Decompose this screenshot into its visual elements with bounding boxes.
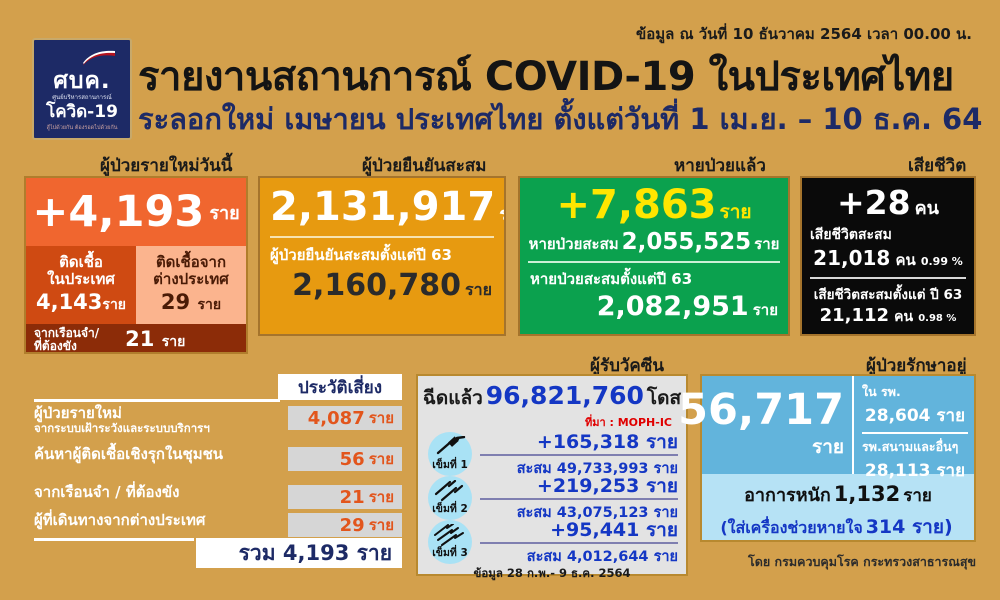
logo-acronym-sub: ศูนย์บริหารสถานการณ์ xyxy=(34,95,130,101)
syringe-glyph xyxy=(433,436,467,458)
imported-label-line2: ต่างประเทศ xyxy=(153,270,229,288)
risk-row: ผู้ป่วยรายใหม่ จากระบบเฝ้าระวังและระบบบร… xyxy=(34,406,402,436)
risk-label-sub: จากระบบเฝ้าระวังและระบบบริการฯ xyxy=(34,422,210,434)
imported-cases-unit: ราย xyxy=(197,297,221,313)
deaths-cum-label: เสียชีวิตสะสม xyxy=(802,222,974,246)
logo-acronym: ศบค. xyxy=(34,70,130,93)
domestic-label-line2: ในประเทศ xyxy=(47,270,115,288)
recovered-cumulative-row: หายป่วยสะสม2,055,525ราย xyxy=(520,227,788,256)
vaccine-dose-numbers: +165,318 ราย สะสม 49,733,993 ราย xyxy=(480,431,678,480)
risk-row: ค้นหาผู้ติดเชื้อเชิงรุกในชุมชน 56 ราย xyxy=(34,447,402,477)
deaths-headline: +28คน xyxy=(802,178,974,222)
cumulative-headline: 2,131,917ราย xyxy=(260,178,504,230)
risk-value-pill: 4,087 ราย xyxy=(288,406,402,430)
section-heading-deaths: เสียชีวิต xyxy=(908,152,966,179)
deaths-value: +28 xyxy=(837,183,911,222)
vaccine-head-label: ฉีดแล้ว xyxy=(423,387,483,409)
field-hospital-label: รพ.สนามและอื่นๆ xyxy=(862,437,968,457)
risk-divider-top xyxy=(34,399,280,402)
recovered-unit: ราย xyxy=(720,201,752,223)
vaccine-dose-row: เข็มที่ 2 +219,253 ราย สะสม 43,075,123 ร… xyxy=(418,475,686,519)
cumulative-since63-unit: ราย xyxy=(465,280,492,299)
recovered-since63-row: 2,082,951ราย xyxy=(520,291,788,322)
dose-new-value: +219,253 ราย xyxy=(480,475,678,498)
new-cases-breakdown: ติดเชื้อ ในประเทศ 4,143ราย ติดเชื้อจาก ต… xyxy=(26,246,246,324)
risk-value: 56 xyxy=(340,449,365,470)
vaccine-dose-numbers: +95,441 ราย สะสม 4,012,644 ราย xyxy=(480,519,678,568)
logo-covid-sub: สู้ไปด้วยกัน ต้องรอดไปด้วยกัน xyxy=(34,126,130,132)
vaccination-card: ฉีดแล้ว96,821,760โดส ที่มา : MOPH-IC เข็… xyxy=(416,374,688,576)
severe-value: 1,132 xyxy=(834,482,900,506)
hospital-value: 28,604 ราย xyxy=(862,402,968,429)
risk-label-main: ค้นหาผู้ติดเชื้อเชิงรุกในชุมชน xyxy=(34,445,223,463)
domestic-cases-label: ติดเชื้อ ในประเทศ xyxy=(47,254,115,288)
recovered-cum-value: 2,055,525 xyxy=(622,229,752,255)
section-heading-cumulative: ผู้ป่วยยืนยันสะสม xyxy=(362,152,487,179)
vaccine-dose-row: เข็มที่ 1 +165,318 ราย สะสม 49,733,993 ร… xyxy=(418,431,686,475)
cumulative-value: 2,131,917 xyxy=(270,184,495,230)
risk-label: ค้นหาผู้ติดเชื้อเชิงรุกในชุมชน xyxy=(34,447,223,463)
cumulative-since63-row: 2,160,780ราย xyxy=(260,267,504,303)
cumulative-unit: ราย xyxy=(499,204,506,225)
syringe-double-icon: เข็มที่ 2 xyxy=(428,476,472,520)
dose-cum-value: สะสม 4,012,644 ราย xyxy=(480,545,678,568)
prison-label-line2: ที่ต้องขัง xyxy=(34,339,77,353)
deaths-cum-percent: 0.99 % xyxy=(921,255,963,268)
treating-unit: ราย xyxy=(812,432,844,462)
recovered-cum-label: หายป่วยสะสม xyxy=(529,235,619,253)
cumulative-since63-value: 2,160,780 xyxy=(292,268,461,303)
vaccine-head-unit: โดส xyxy=(647,387,681,409)
ventilator-row: (ใส่เครื่องช่วยหายใจ314 ราย) xyxy=(702,509,974,542)
deaths-since63-row: 21,112 คน 0.98 % xyxy=(802,305,974,328)
risk-label-main: ผู้ป่วยรายใหม่ xyxy=(34,404,122,422)
divider xyxy=(480,498,678,500)
risk-unit: ราย xyxy=(369,513,394,537)
risk-total: รวม 4,193 ราย xyxy=(196,538,402,568)
treating-total-block: 56,717 ราย xyxy=(702,376,852,474)
deaths-cum-row: 21,018 คน 0.99 % xyxy=(802,246,974,272)
dose-new-value: +95,441 ราย xyxy=(480,519,678,542)
imported-label-line1: ติดเชื้อจาก xyxy=(156,253,226,271)
deaths-cum-unit: คน xyxy=(895,251,915,269)
vaccine-source: ที่มา : MOPH-IC xyxy=(418,413,686,431)
ventilator-label: (ใส่เครื่องช่วยหายใจ xyxy=(720,518,862,537)
ventilator-value: 314 ราย) xyxy=(866,516,953,538)
covid-dashboard-infographic: ศบค. ศูนย์บริหารสถานการณ์ โควิด-19 สู้ไป… xyxy=(0,0,1000,600)
syringe-glyph xyxy=(433,524,467,546)
logo-covid-text: โควิด-19 xyxy=(34,104,130,121)
domestic-cases-block: ติดเชื้อ ในประเทศ 4,143ราย xyxy=(26,246,136,324)
prison-cases-value-row: 21 ราย xyxy=(125,327,185,353)
imported-cases-label: ติดเชื้อจาก ต่างประเทศ xyxy=(153,254,229,288)
new-cases-headline: +4,193 ราย xyxy=(26,178,246,246)
prison-cases-value: 21 xyxy=(125,327,154,351)
deaths-since63-unit: คน xyxy=(894,309,913,325)
sbc-logo: ศบค. ศูนย์บริหารสถานการณ์ โควิด-19 สู้ไป… xyxy=(32,38,132,140)
section-heading-new-cases: ผู้ป่วยรายใหม่วันนี้ xyxy=(100,152,232,179)
domestic-cases-value: 4,143 xyxy=(36,290,102,314)
domestic-cases-unit: ราย xyxy=(102,297,126,313)
divider xyxy=(480,542,678,544)
recovered-since63-unit: ราย xyxy=(753,301,778,319)
recovered-cum-unit: ราย xyxy=(754,235,779,253)
vaccine-head-value: 96,821,760 xyxy=(486,381,644,410)
imported-cases-value: 29 xyxy=(161,290,190,314)
syringe-triple-icon: เข็มที่ 3 xyxy=(428,520,472,564)
thai-flag-ribbon-icon xyxy=(82,49,116,70)
prison-cases-unit: ราย xyxy=(162,334,186,350)
risk-label-main: ผู้ที่เดินทางจากต่างประเทศ xyxy=(34,511,205,529)
risk-unit: ราย xyxy=(369,406,394,430)
risk-label: จากเรือนจำ / ที่ต้องขัง xyxy=(34,485,179,501)
new-cases-unit: ราย xyxy=(209,198,239,227)
risk-value-pill: 29 ราย xyxy=(288,513,402,537)
vaccine-dose-row: เข็มที่ 3 +95,441 ราย สะสม 4,012,644 ราย xyxy=(418,519,686,563)
cumulative-cases-card: 2,131,917ราย ผู้ป่วยยืนยันสะสมตั้งแต่ปี … xyxy=(258,176,506,336)
risk-value: 4,087 xyxy=(308,408,365,429)
vaccine-dose-numbers: +219,253 ราย สะสม 43,075,123 ราย xyxy=(480,475,678,524)
recovered-card: +7,863ราย หายป่วยสะสม2,055,525ราย หายป่ว… xyxy=(518,176,790,336)
header: ศบค. ศูนย์บริหารสถานการณ์ โควิด-19 สู้ไป… xyxy=(0,0,1000,148)
deaths-since63-percent: 0.98 % xyxy=(918,313,956,324)
recovered-since63-value: 2,082,951 xyxy=(597,291,749,322)
vaccine-headline: ฉีดแล้ว96,821,760โดส xyxy=(418,376,686,413)
deaths-since63-value: 21,112 xyxy=(820,305,889,326)
data-timestamp: ข้อมูล ณ วันที่ 10 ธันวาคม 2564 เวลา 00.… xyxy=(636,22,972,46)
risk-value-pill: 21 ราย xyxy=(288,485,402,509)
risk-history-badge: ประวัติเสี่ยง xyxy=(278,374,402,400)
treating-card: 56,717 ราย ใน รพ. 28,604 ราย รพ.สนามและอ… xyxy=(700,374,976,542)
divider xyxy=(862,432,968,434)
risk-label: ผู้ที่เดินทางจากต่างประเทศ xyxy=(34,513,205,529)
new-cases-value: +4,193 xyxy=(32,191,204,234)
section-heading-recovered: หายป่วยแล้ว xyxy=(674,152,766,179)
dose-new-value: +165,318 ราย xyxy=(480,431,678,454)
treating-breakdown: ใน รพ. 28,604 ราย รพ.สนามและอื่นๆ 28,113… xyxy=(852,376,974,474)
recovered-headline: +7,863ราย xyxy=(520,178,788,227)
dose-label: เข็มที่ 1 xyxy=(428,456,472,473)
treating-main: 56,717 ราย ใน รพ. 28,604 ราย รพ.สนามและอ… xyxy=(702,376,974,474)
new-cases-card: +4,193 ราย ติดเชื้อ ในประเทศ 4,143ราย ติ… xyxy=(24,176,248,354)
risk-unit: ราย xyxy=(369,447,394,471)
imported-cases-block: ติดเชื้อจาก ต่างประเทศ 29 ราย xyxy=(136,246,246,324)
recovered-value: +7,863 xyxy=(556,182,716,228)
risk-unit: ราย xyxy=(369,485,394,509)
treating-value: 56,717 xyxy=(678,389,844,432)
prison-cases-label: จากเรือนจำ/ ที่ต้องขัง xyxy=(34,327,99,352)
deaths-unit: คน xyxy=(915,198,939,219)
severe-unit: ราย xyxy=(903,486,932,506)
risk-value-pill: 56 ราย xyxy=(288,447,402,471)
risk-divider-bottom xyxy=(34,538,194,541)
syringe-single-icon: เข็มที่ 1 xyxy=(428,432,472,476)
prison-cases-block: จากเรือนจำ/ ที่ต้องขัง 21 ราย xyxy=(26,324,246,354)
risk-label-main: จากเรือนจำ / ที่ต้องขัง xyxy=(34,483,179,501)
footer-credit: โดย กรมควบคุมโรค กระทรวงสาธารณสุข xyxy=(748,552,976,572)
syringe-glyph xyxy=(433,480,467,502)
risk-label: ผู้ป่วยรายใหม่ จากระบบเฝ้าระวังและระบบบร… xyxy=(34,406,210,434)
dose-label: เข็มที่ 3 xyxy=(428,544,472,561)
deaths-card: +28คน เสียชีวิตสะสม 21,018 คน 0.99 % เสี… xyxy=(800,176,976,336)
deaths-since63-label: เสียชีวิตสะสมตั้งแต่ ปี 63 xyxy=(802,279,974,305)
dose-label: เข็มที่ 2 xyxy=(428,500,472,517)
recovered-since63-label: หายป่วยสะสมตั้งแต่ปี 63 xyxy=(520,263,788,291)
deaths-cum-value: 21,018 xyxy=(813,246,890,270)
domestic-label-line1: ติดเชื้อ xyxy=(59,253,103,271)
severe-row: อาการหนัก1,132ราย xyxy=(702,480,974,509)
page-subtitle: ระลอกใหม่ เมษายน ประเทศไทย ตั้งแต่วันที่… xyxy=(138,96,982,142)
hospital-label: ใน รพ. xyxy=(862,382,968,402)
imported-cases-value-row: 29 ราย xyxy=(161,290,221,316)
risk-value: 29 xyxy=(340,515,365,536)
severe-label: อาการหนัก xyxy=(744,485,831,506)
cumulative-since63-label: ผู้ป่วยยืนยันสะสมตั้งแต่ปี 63 xyxy=(260,238,504,267)
domestic-cases-value-row: 4,143ราย xyxy=(36,290,126,316)
risk-value: 21 xyxy=(340,487,365,508)
divider xyxy=(480,454,678,456)
